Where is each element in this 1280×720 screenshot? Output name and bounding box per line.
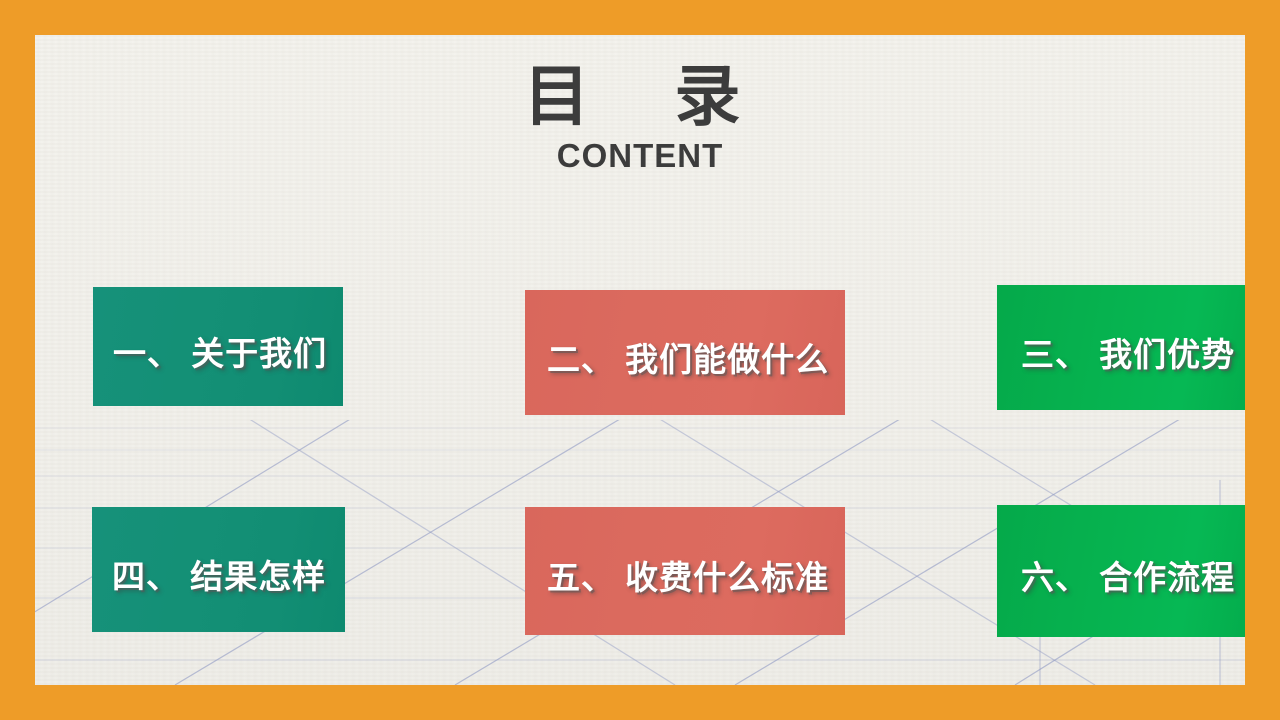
content-item-label: 六、 合作流程	[997, 551, 1235, 599]
slide-inner-panel: 目 录 CONTENT 一、 关于我们 二、 我们能做什么 三、 我们优势 四、…	[35, 35, 1245, 685]
content-item-5[interactable]: 五、 收费什么标准	[525, 507, 845, 635]
title-block: 目 录 CONTENT	[35, 60, 1245, 175]
content-item-label: 五、 收费什么标准	[525, 551, 829, 599]
page-title: 目 录	[35, 60, 1245, 133]
content-item-label: 二、 我们能做什么	[525, 333, 829, 381]
content-item-label: 三、 我们优势	[997, 328, 1235, 376]
content-item-3[interactable]: 三、 我们优势	[997, 285, 1245, 410]
content-item-2[interactable]: 二、 我们能做什么	[525, 290, 845, 415]
content-item-1[interactable]: 一、 关于我们	[93, 287, 343, 406]
content-item-label: 一、 关于我们	[93, 327, 327, 375]
slide-canvas: 目 录 CONTENT 一、 关于我们 二、 我们能做什么 三、 我们优势 四、…	[0, 0, 1280, 720]
content-item-4[interactable]: 四、 结果怎样	[92, 507, 345, 632]
page-subtitle: CONTENT	[35, 137, 1245, 175]
content-item-label: 四、 结果怎样	[92, 550, 326, 598]
content-item-6[interactable]: 六、 合作流程	[997, 505, 1245, 637]
